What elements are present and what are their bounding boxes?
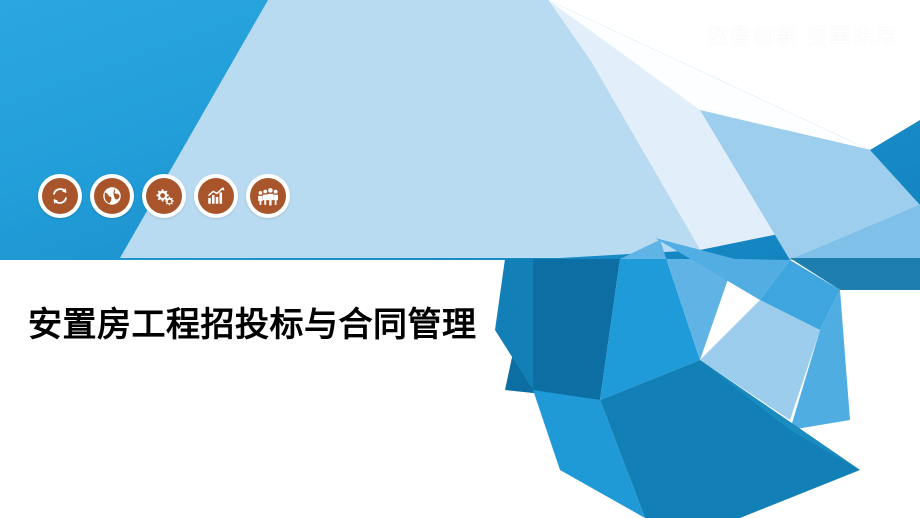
icon-badge-people[interactable] <box>246 174 290 218</box>
recycle-arrows-icon <box>42 178 78 214</box>
icon-badge-recycle[interactable] <box>38 174 82 218</box>
bar-chart-growth-icon <box>198 178 234 214</box>
tagline-text: 数智创新 变革未来 <box>707 26 898 48</box>
people-group-icon <box>250 178 286 214</box>
polygon-artwork <box>0 0 920 518</box>
icon-badge-gears[interactable] <box>142 174 186 218</box>
icon-badge-chart[interactable] <box>194 174 238 218</box>
gears-icon <box>146 178 182 214</box>
globe-icon <box>94 178 130 214</box>
icon-row <box>38 174 290 218</box>
page-title: 安置房工程招投标与合同管理 <box>28 300 528 351</box>
icon-badge-globe[interactable] <box>90 174 134 218</box>
slide-root: 数智创新 变革未来 <box>0 0 920 518</box>
